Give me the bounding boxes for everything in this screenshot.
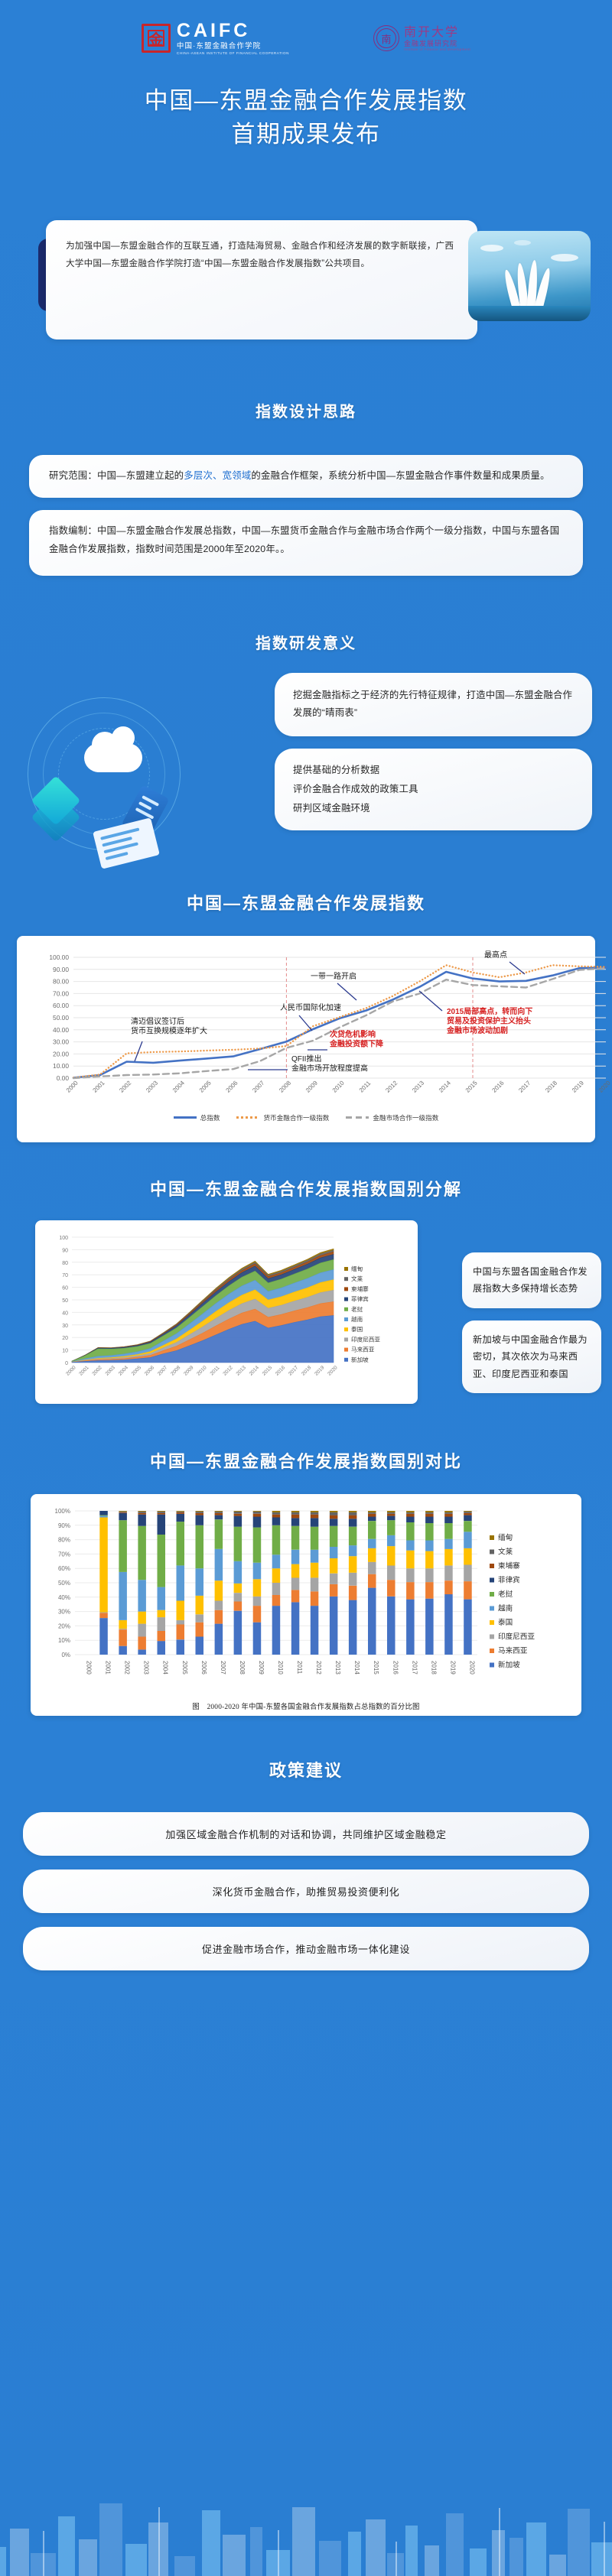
svg-text:2012: 2012 xyxy=(222,1365,234,1377)
svg-text:柬埔寨: 柬埔寨 xyxy=(351,1285,369,1292)
svg-text:90: 90 xyxy=(62,1248,68,1253)
building-shape xyxy=(348,2532,361,2576)
chart2-notes: 中国与东盟各国金融合作发展指数大多保持增长态势 新加坡与中国金融合作最为密切，其… xyxy=(462,1220,601,1394)
svg-text:2018: 2018 xyxy=(544,1079,558,1093)
city-skyline-graphic xyxy=(0,2484,612,2576)
svg-text:货币互换规模逐年扩大: 货币互换规模逐年扩大 xyxy=(131,1025,207,1035)
svg-text:80%: 80% xyxy=(58,1536,70,1543)
legend-label-monetary: 货币金融合作一级指数 xyxy=(263,1113,329,1122)
building-shape xyxy=(526,2522,546,2576)
svg-text:2015局部高点，转而向下: 2015局部高点，转而向下 xyxy=(447,1006,532,1016)
svg-text:2017: 2017 xyxy=(288,1365,300,1377)
svg-text:2010: 2010 xyxy=(331,1079,346,1093)
svg-text:80.00: 80.00 xyxy=(53,977,69,985)
svg-text:0.00: 0.00 xyxy=(57,1074,70,1082)
svg-text:2011: 2011 xyxy=(358,1079,373,1093)
chart2-plot: 0102030405060708090100200020012002200320… xyxy=(46,1230,407,1393)
svg-text:2002: 2002 xyxy=(124,1661,131,1675)
svg-text:2020: 2020 xyxy=(468,1661,475,1675)
svg-text:90.00: 90.00 xyxy=(53,965,69,973)
svg-text:0: 0 xyxy=(65,1361,68,1366)
policy-item: 加强区域金融合作机制的对话和协调，共同维护区域金融稳定 xyxy=(23,1812,589,1856)
svg-text:2010: 2010 xyxy=(196,1365,208,1377)
building-shape xyxy=(10,2529,29,2576)
svg-text:10%: 10% xyxy=(58,1637,70,1644)
svg-text:10: 10 xyxy=(62,1348,68,1353)
svg-text:菲律宾: 菲律宾 xyxy=(351,1294,369,1302)
svg-text:60: 60 xyxy=(62,1285,68,1291)
svg-text:马来西亚: 马来西亚 xyxy=(498,1647,528,1655)
svg-text:2013: 2013 xyxy=(334,1661,341,1675)
svg-text:50: 50 xyxy=(62,1298,68,1304)
svg-text:2001: 2001 xyxy=(92,1079,106,1093)
svg-text:2000: 2000 xyxy=(86,1661,93,1675)
svg-text:10.00: 10.00 xyxy=(53,1062,69,1070)
svg-text:2004: 2004 xyxy=(171,1079,186,1093)
significance-card-barometer: 挖掘金融指标之于经济的先行特征规律，打造中国—东盟金融合作发展的“晴雨表” xyxy=(275,673,592,737)
svg-text:2013: 2013 xyxy=(411,1079,425,1093)
svg-text:新加坡: 新加坡 xyxy=(351,1355,369,1363)
svg-text:2015: 2015 xyxy=(464,1079,479,1093)
svg-text:金融投资额下降: 金融投资额下降 xyxy=(329,1038,384,1048)
svg-text:文莱: 文莱 xyxy=(351,1275,363,1282)
svg-text:QFII推出: QFII推出 xyxy=(291,1054,321,1064)
svg-text:50%: 50% xyxy=(58,1580,70,1587)
chart3-container: 0%10%20%30%40%50%60%70%80%90%100%2000200… xyxy=(31,1494,581,1716)
building-shape xyxy=(174,2556,195,2576)
svg-text:缅甸: 缅甸 xyxy=(498,1533,513,1542)
svg-text:20%: 20% xyxy=(58,1623,70,1629)
svg-text:次贷危机影响: 次贷危机影响 xyxy=(330,1029,376,1039)
nankai-en: Institute of Finance and Development xyxy=(404,47,470,51)
svg-text:60%: 60% xyxy=(58,1565,70,1572)
svg-text:30: 30 xyxy=(62,1323,68,1328)
svg-text:2020: 2020 xyxy=(327,1365,339,1377)
svg-text:2006: 2006 xyxy=(144,1365,156,1377)
svg-text:2017: 2017 xyxy=(411,1661,418,1675)
svg-text:2003: 2003 xyxy=(105,1365,117,1377)
svg-text:文莱: 文莱 xyxy=(498,1547,513,1556)
svg-text:金融市场开放程度提高: 金融市场开放程度提高 xyxy=(291,1063,368,1073)
policy-list: 加强区域金融合作机制的对话和协调，共同维护区域金融稳定 深化货币金融合作，助推贸… xyxy=(23,1812,589,1970)
chart3-caption: 图 2000-2020 年中国-东盟各国金融合作发展指数占总指数的百分比图 xyxy=(41,1701,571,1711)
svg-text:2002: 2002 xyxy=(91,1365,103,1377)
chart2-container: 0102030405060708090100200020012002200320… xyxy=(35,1220,418,1404)
svg-text:2006: 2006 xyxy=(200,1661,207,1675)
chart2-note-2: 新加坡与中国金融合作最为密切，其次依次为马来西亚、印度尼西亚和泰国 xyxy=(462,1320,601,1394)
svg-text:2020: 2020 xyxy=(597,1079,612,1093)
fintech-illustration xyxy=(11,693,263,853)
svg-text:100.00: 100.00 xyxy=(49,953,69,961)
svg-text:30%: 30% xyxy=(58,1608,70,1615)
building-shape xyxy=(509,2538,524,2576)
svg-text:2002: 2002 xyxy=(118,1079,132,1093)
svg-text:0%: 0% xyxy=(61,1652,70,1658)
infographic-page: CAIFC 中国·东盟金融合作学院 CHINA-ASEAN INSTITUTE … xyxy=(0,0,612,2576)
building-shape xyxy=(223,2535,246,2576)
svg-text:2009: 2009 xyxy=(183,1365,195,1377)
svg-text:2016: 2016 xyxy=(275,1365,287,1377)
svg-text:2012: 2012 xyxy=(315,1661,322,1675)
svg-text:100: 100 xyxy=(59,1236,68,1241)
design-scope-suffix: 的金融合作框架，系统分析中国—东盟金融合作事件数量和成果质量。 xyxy=(251,470,549,481)
building-shape xyxy=(58,2516,75,2576)
svg-text:缅甸: 缅甸 xyxy=(351,1265,363,1272)
spire-shape xyxy=(43,2531,44,2576)
building-shape xyxy=(405,2526,418,2576)
spire-shape xyxy=(604,2522,605,2576)
svg-text:清迈倡议签订后: 清迈倡议签订后 xyxy=(131,1016,184,1026)
significance-use-2: 评价金融合作成效的政策工具 xyxy=(293,780,574,799)
chart1-container: 0.0010.0020.0030.0040.0050.0060.0070.008… xyxy=(17,936,595,1142)
svg-text:越南: 越南 xyxy=(351,1315,363,1323)
svg-text:菲律宾: 菲律宾 xyxy=(498,1575,520,1584)
svg-text:100%: 100% xyxy=(55,1508,70,1515)
nankai-seal-icon xyxy=(373,25,399,51)
svg-text:2004: 2004 xyxy=(118,1365,130,1377)
svg-text:2003: 2003 xyxy=(145,1079,159,1093)
legend-label-total: 总指数 xyxy=(200,1113,220,1122)
building-shape xyxy=(549,2555,565,2576)
design-scope-prefix: 研究范围：中国—东盟建立起的 xyxy=(49,470,184,481)
svg-text:老挝: 老挝 xyxy=(351,1304,363,1312)
legend-label-market: 金融市场合作一级指数 xyxy=(373,1113,438,1122)
chart3-plot: 0%10%20%30%40%50%60%70%80%90%100%2000200… xyxy=(41,1503,571,1694)
svg-text:一带一路开启: 一带一路开启 xyxy=(311,971,356,981)
svg-text:2008: 2008 xyxy=(170,1365,182,1377)
building-shape xyxy=(446,2513,464,2576)
design-card-compilation: 指数编制：中国—东盟金融合作发展总指数，中国—东盟货币金融合作与金融市场合作两个… xyxy=(29,510,583,576)
intro-text: 为加强中国—东盟金融合作的互联互通，打造陆海贸易、金融合作和经济发展的数字新联接… xyxy=(46,220,477,339)
svg-text:2019: 2019 xyxy=(314,1365,326,1377)
building-shape xyxy=(250,2527,263,2576)
policy-item: 深化货币金融合作，助推贸易投资便利化 xyxy=(23,1869,589,1913)
section-title-chart3: 中国—东盟金融合作发展指数国别对比 xyxy=(0,1448,612,1473)
svg-text:马来西亚: 马来西亚 xyxy=(351,1346,375,1353)
caifc-en-name: CHINA-ASEAN INSTITUTE OF FINANCIAL COOPE… xyxy=(177,52,289,56)
significance-use-1: 提供基础的分析数据 xyxy=(293,761,574,780)
section-title-chart1: 中国—东盟金融合作发展指数 xyxy=(0,890,612,914)
chart1-legend: 总指数 货币金融合作一级指数 金融市场合作一级指数 xyxy=(28,1113,584,1122)
svg-text:20.00: 20.00 xyxy=(53,1050,69,1057)
svg-text:泰国: 泰国 xyxy=(351,1325,363,1333)
svg-text:2000: 2000 xyxy=(65,1365,77,1377)
svg-text:印度尼西亚: 印度尼西亚 xyxy=(498,1632,535,1641)
building-shape xyxy=(591,2542,612,2576)
spire-shape xyxy=(499,2508,500,2576)
page-title: 中国—东盟金融合作发展指数 首期成果发布 xyxy=(0,84,612,151)
building-shape xyxy=(202,2510,220,2576)
svg-text:2018: 2018 xyxy=(430,1661,437,1675)
svg-text:人民币国际化加速: 人民币国际化加速 xyxy=(280,1002,341,1012)
caifc-abbr: CAIFC xyxy=(177,21,289,41)
svg-text:2010: 2010 xyxy=(277,1661,284,1675)
svg-text:2009: 2009 xyxy=(304,1079,319,1093)
chart1-plot: 0.0010.0020.0030.0040.0050.0060.0070.008… xyxy=(28,945,584,1109)
svg-text:最高点: 最高点 xyxy=(484,950,507,960)
svg-text:2008: 2008 xyxy=(239,1661,246,1675)
svg-text:2014: 2014 xyxy=(353,1661,360,1675)
svg-text:30.00: 30.00 xyxy=(53,1038,69,1045)
nanning-tower-photo xyxy=(468,231,591,321)
spire-shape xyxy=(278,2530,279,2576)
caifc-cn-name: 中国·东盟金融合作学院 xyxy=(177,43,289,50)
svg-text:2006: 2006 xyxy=(225,1079,239,1093)
svg-text:2005: 2005 xyxy=(181,1661,188,1675)
svg-text:40%: 40% xyxy=(58,1593,70,1600)
svg-text:60.00: 60.00 xyxy=(53,1002,69,1009)
svg-text:新加坡: 新加坡 xyxy=(498,1660,520,1669)
svg-text:老挝: 老挝 xyxy=(498,1590,513,1599)
building-shape xyxy=(99,2503,122,2576)
chart2-note-1: 中国与东盟各国金融合作发展指数大多保持增长态势 xyxy=(462,1252,601,1308)
section-title-design: 指数设计思路 xyxy=(0,399,612,421)
building-shape xyxy=(79,2539,97,2576)
svg-text:2019: 2019 xyxy=(571,1079,585,1093)
svg-text:贸易及投资保护主义抬头: 贸易及投资保护主义抬头 xyxy=(447,1015,531,1025)
building-shape xyxy=(292,2507,315,2576)
building-shape xyxy=(319,2541,341,2576)
legend-swatch-market-icon xyxy=(346,1116,369,1119)
legend-item-total: 总指数 xyxy=(174,1113,220,1122)
svg-text:2007: 2007 xyxy=(220,1661,226,1675)
section-title-chart2: 中国—东盟金融合作发展指数国别分解 xyxy=(0,1176,612,1200)
legend-item-market: 金融市场合作一级指数 xyxy=(346,1113,438,1122)
svg-text:2008: 2008 xyxy=(278,1079,292,1093)
building-shape xyxy=(0,2547,6,2576)
design-scope-highlight: 多层次、宽领域 xyxy=(184,470,251,481)
section-title-significance: 指数研发意义 xyxy=(0,631,612,653)
svg-text:柬埔寨: 柬埔寨 xyxy=(498,1561,520,1571)
page-title-line1: 中国—东盟金融合作发展指数 xyxy=(0,84,612,118)
svg-text:2005: 2005 xyxy=(198,1079,213,1093)
svg-text:2017: 2017 xyxy=(517,1079,532,1093)
svg-text:2013: 2013 xyxy=(236,1365,248,1377)
legend-swatch-total-icon xyxy=(174,1116,197,1119)
svg-text:2016: 2016 xyxy=(392,1661,399,1675)
svg-text:2014: 2014 xyxy=(438,1079,452,1093)
svg-text:40.00: 40.00 xyxy=(53,1025,69,1033)
svg-text:越南: 越南 xyxy=(498,1603,513,1613)
svg-text:2018: 2018 xyxy=(301,1365,313,1377)
svg-text:80: 80 xyxy=(62,1260,68,1265)
spire-shape xyxy=(396,2542,397,2576)
svg-text:2011: 2011 xyxy=(210,1365,221,1376)
svg-text:50.00: 50.00 xyxy=(53,1014,69,1022)
svg-text:2012: 2012 xyxy=(384,1079,399,1093)
chart2-block: 0102030405060708090100200020012002200320… xyxy=(0,1220,612,1411)
svg-text:2007: 2007 xyxy=(157,1365,169,1377)
svg-text:2009: 2009 xyxy=(258,1661,265,1675)
legend-swatch-monetary-icon xyxy=(236,1116,259,1119)
caifc-seal-icon xyxy=(142,24,171,53)
cloud-icon xyxy=(84,743,142,772)
svg-text:20: 20 xyxy=(62,1336,68,1341)
section-title-policy: 政策建议 xyxy=(0,1757,612,1782)
svg-text:70%: 70% xyxy=(58,1551,70,1558)
significance-use-3: 研判区域金融环境 xyxy=(293,799,574,818)
legend-item-monetary: 货币金融合作一级指数 xyxy=(236,1113,329,1122)
building-shape xyxy=(125,2544,147,2576)
svg-text:2019: 2019 xyxy=(449,1661,456,1675)
svg-text:2004: 2004 xyxy=(162,1661,169,1675)
svg-text:泰国: 泰国 xyxy=(498,1618,513,1627)
svg-text:2001: 2001 xyxy=(105,1661,112,1675)
svg-text:2007: 2007 xyxy=(251,1079,265,1093)
svg-text:70: 70 xyxy=(62,1273,68,1278)
nankai-name: 南开大学 xyxy=(404,25,470,39)
svg-text:2014: 2014 xyxy=(249,1365,261,1377)
policy-item: 促进金融市场合作，推动金融市场一体化建设 xyxy=(23,1927,589,1970)
svg-text:40: 40 xyxy=(62,1311,68,1316)
caifc-logo: CAIFC 中国·东盟金融合作学院 CHINA-ASEAN INSTITUTE … xyxy=(142,21,289,55)
svg-text:90%: 90% xyxy=(58,1522,70,1528)
svg-text:2015: 2015 xyxy=(262,1365,274,1377)
svg-text:2001: 2001 xyxy=(78,1365,90,1377)
building-shape xyxy=(568,2509,590,2576)
building-shape xyxy=(366,2519,386,2576)
spire-shape xyxy=(158,2507,160,2576)
significance-card-uses: 提供基础的分析数据 评价金融合作成效的政策工具 研判区域金融环境 xyxy=(275,749,592,830)
svg-text:70.00: 70.00 xyxy=(53,989,69,997)
intro-block: 为加强中国—东盟金融合作的互联互通，打造陆海贸易、金融合作和经济发展的数字新联接… xyxy=(21,210,591,339)
nankai-logo: 南开大学 金融发展研究院 Institute of Finance and De… xyxy=(373,25,470,51)
tower-icon xyxy=(503,255,556,309)
nankai-sub: 金融发展研究院 xyxy=(404,40,470,47)
svg-text:2005: 2005 xyxy=(131,1365,143,1377)
logo-bar: CAIFC 中国·东盟金融合作学院 CHINA-ASEAN INSTITUTE … xyxy=(0,0,612,55)
page-title-line2: 首期成果发布 xyxy=(0,118,612,151)
svg-text:2015: 2015 xyxy=(373,1661,379,1675)
significance-block: 挖掘金融指标之于经济的先行特征规律，打造中国—东盟金融合作发展的“晴雨表” 提供… xyxy=(0,673,612,856)
svg-text:2016: 2016 xyxy=(491,1079,506,1093)
svg-text:金融市场波动加剧: 金融市场波动加剧 xyxy=(446,1025,508,1035)
svg-text:2011: 2011 xyxy=(296,1661,303,1675)
design-card-scope: 研究范围：中国—东盟建立起的多层次、宽领域的金融合作框架，系统分析中国—东盟金融… xyxy=(29,455,583,498)
building-shape xyxy=(470,2548,487,2576)
building-shape xyxy=(425,2545,439,2576)
svg-text:2003: 2003 xyxy=(143,1661,150,1675)
svg-text:印度尼西亚: 印度尼西亚 xyxy=(351,1335,380,1343)
